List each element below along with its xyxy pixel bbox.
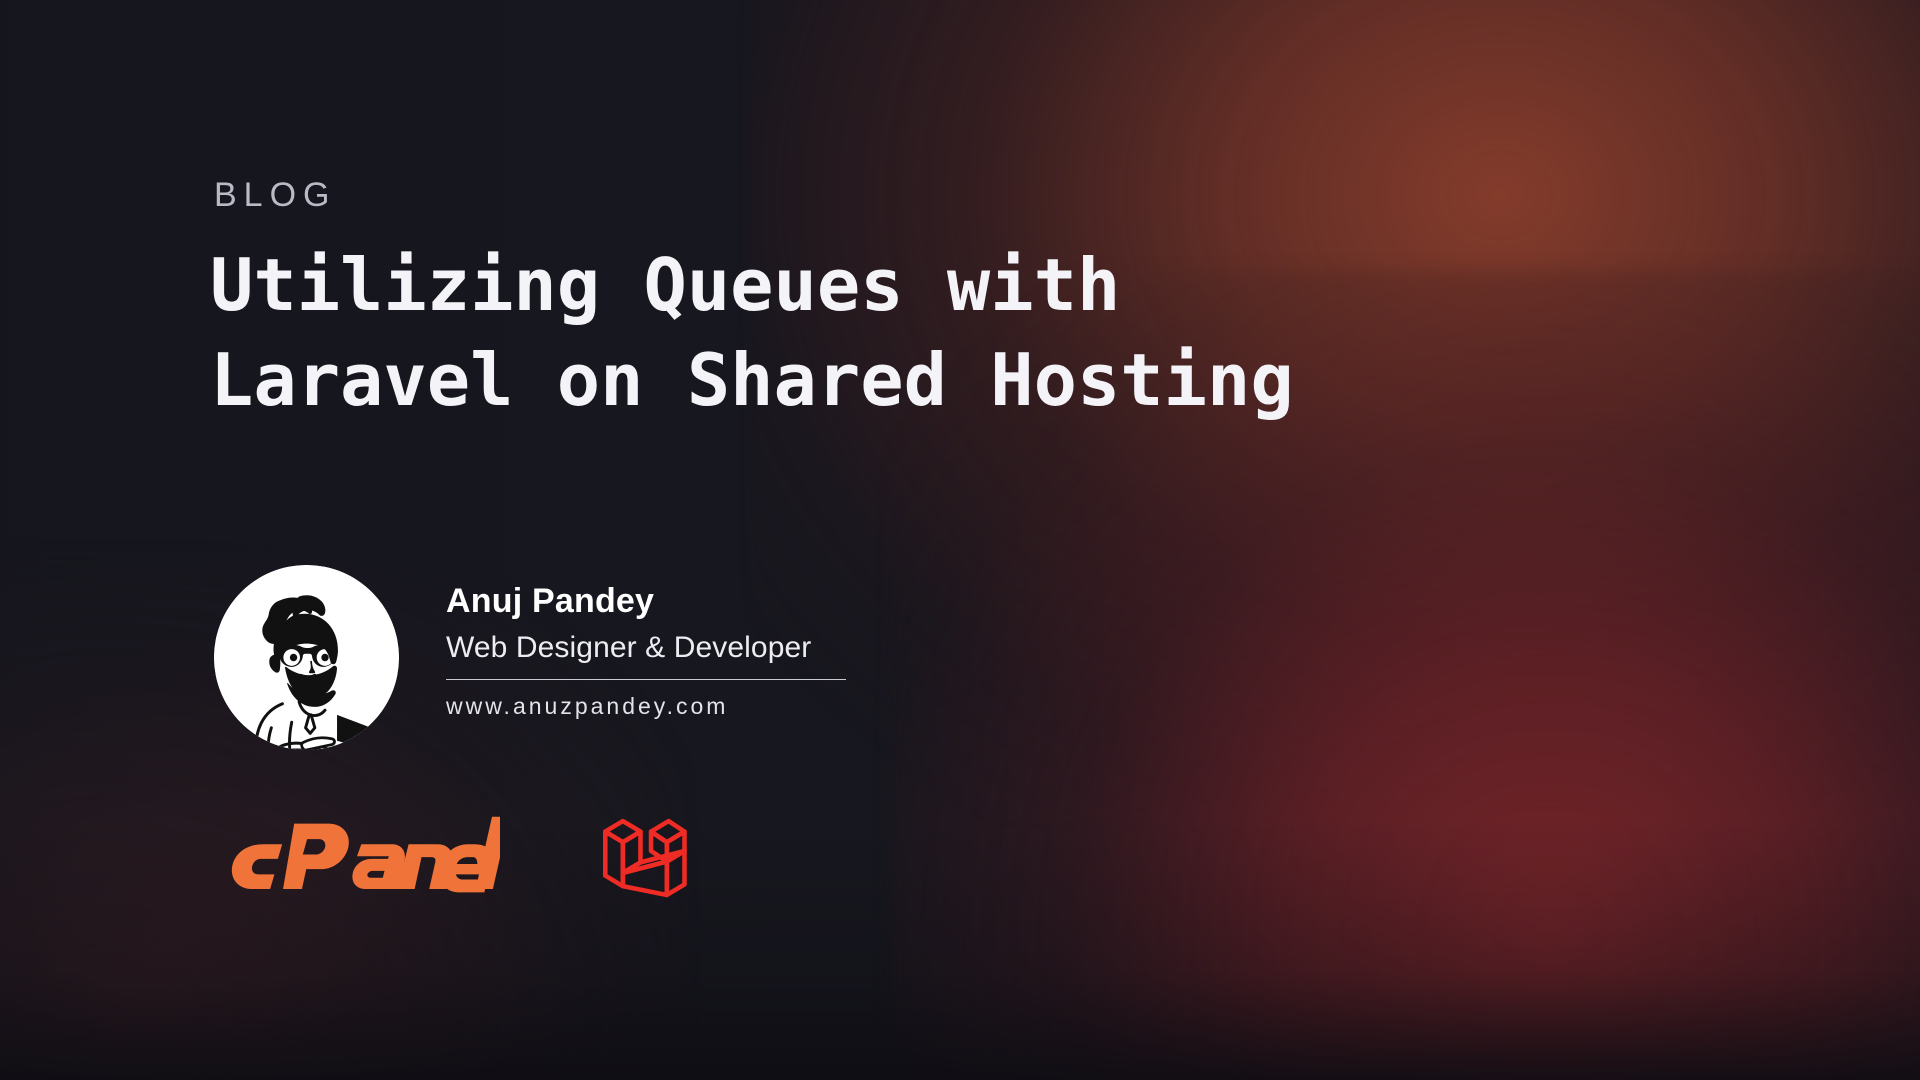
- author-divider: [446, 679, 846, 680]
- page-title: Utilizing Queues with Laravel on Shared …: [210, 238, 1630, 428]
- kicker-label: BLOG: [214, 178, 336, 212]
- author-role: Web Designer & Developer: [446, 629, 851, 667]
- laravel-logo-icon: [600, 812, 688, 904]
- avatar: [214, 565, 399, 750]
- logo-row: [214, 812, 688, 904]
- author-text: Anuj Pandey Web Designer & Developer www…: [446, 565, 851, 721]
- cpanel-logo-icon: [214, 815, 500, 901]
- cover-content: BLOG Utilizing Queues with Laravel on Sh…: [214, 0, 1714, 1080]
- author-name: Anuj Pandey: [446, 580, 851, 623]
- author-website-url: www.anuzpandey.com: [446, 693, 851, 721]
- blog-cover-canvas: BLOG Utilizing Queues with Laravel on Sh…: [0, 0, 1920, 1080]
- author-block: Anuj Pandey Web Designer & Developer www…: [214, 565, 851, 750]
